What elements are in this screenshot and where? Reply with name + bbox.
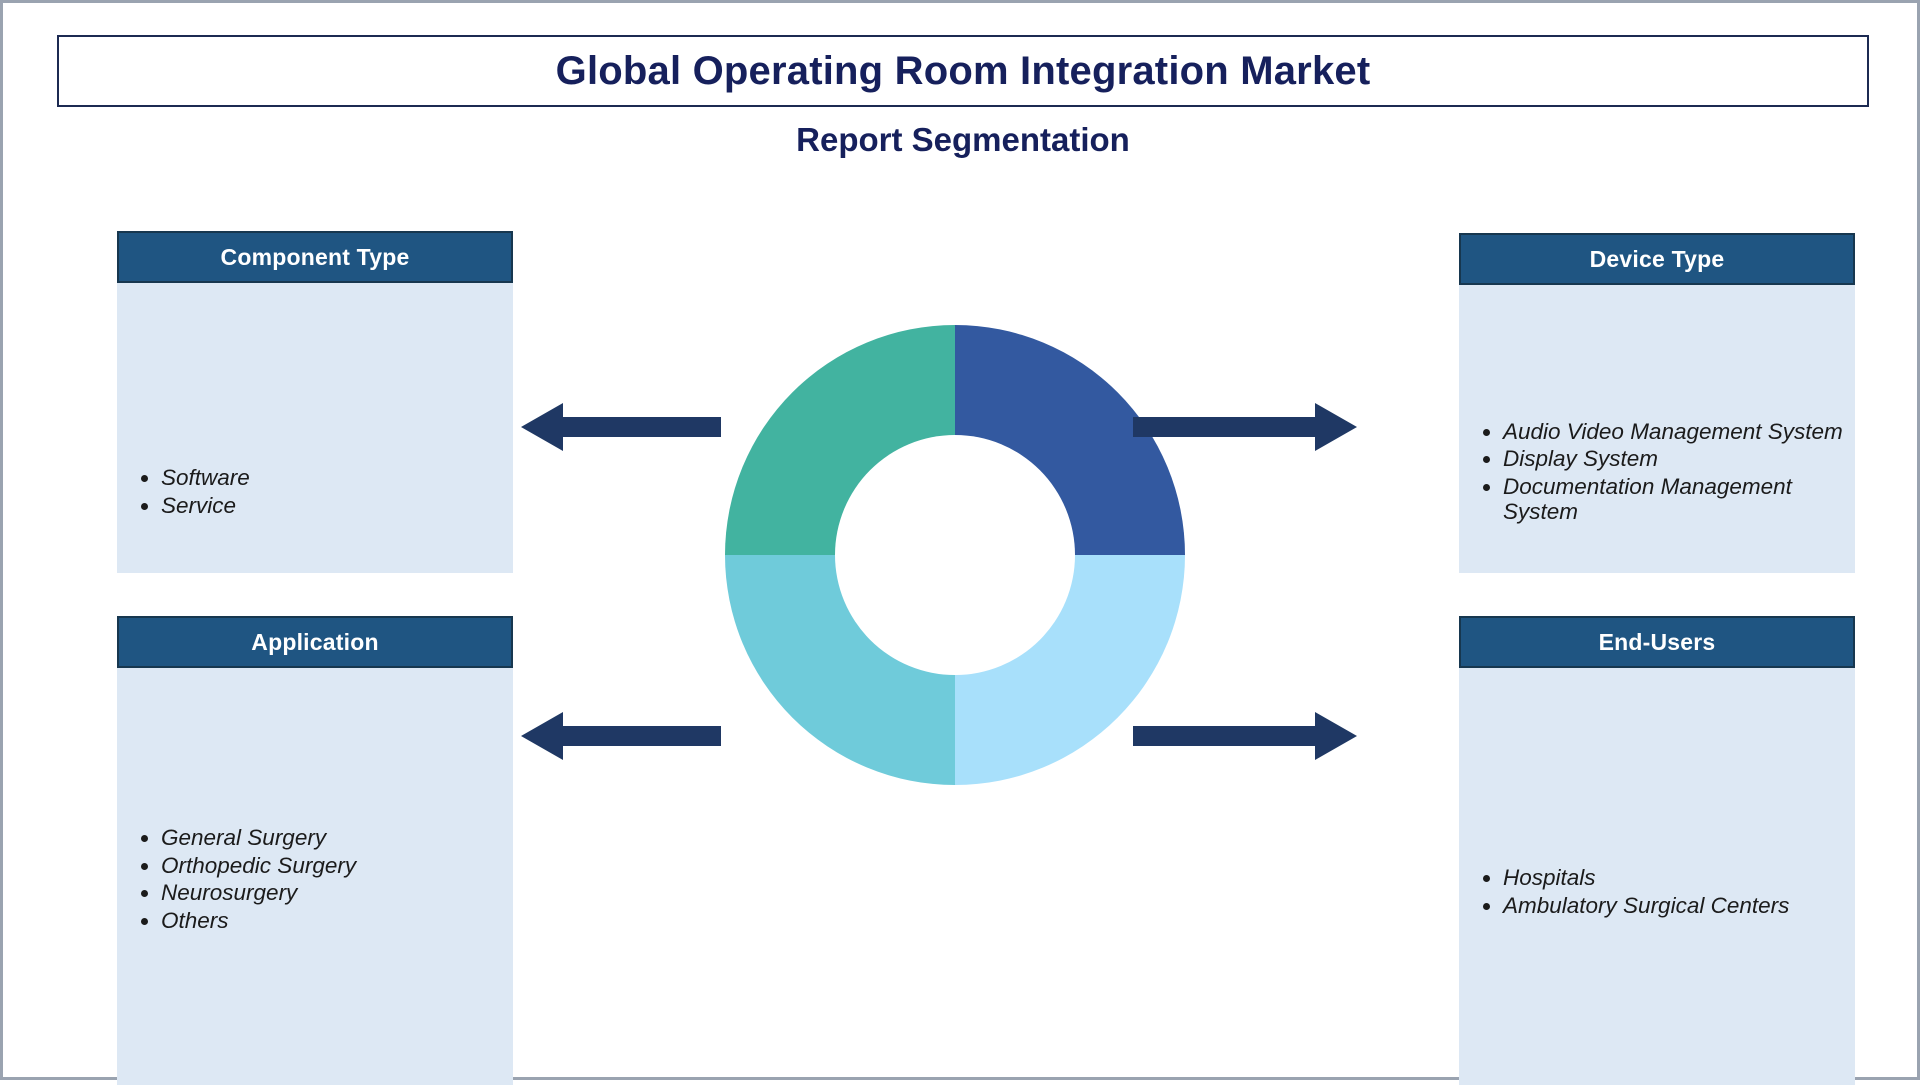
- arrow-left-icon: [521, 401, 721, 453]
- page-title: Global Operating Room Integration Market: [556, 49, 1371, 94]
- arrow-left-icon: [521, 710, 721, 762]
- panel-header-label: Application: [251, 629, 378, 656]
- list-item: Others: [161, 908, 503, 934]
- panel-device-type: Device Type Audio Video Management Syste…: [1459, 233, 1855, 573]
- list-item: Ambulatory Surgical Centers: [1503, 893, 1845, 919]
- panel-body-device-type: Audio Video Management System Display Sy…: [1459, 285, 1855, 573]
- panel-header-end-users: End-Users: [1459, 616, 1855, 668]
- panel-header-label: Device Type: [1590, 246, 1725, 273]
- list-item: Orthopedic Surgery: [161, 853, 503, 879]
- panel-component-type: Component Type Software Service: [117, 231, 513, 573]
- donut-chart-svg: [705, 305, 1205, 805]
- panel-body-component-type: Software Service: [117, 283, 513, 573]
- diagram-canvas: Global Operating Room Integration Market…: [0, 0, 1920, 1080]
- panel-header-label: End-Users: [1599, 629, 1716, 656]
- panel-end-users: End-Users Hospitals Ambulatory Surgical …: [1459, 616, 1855, 1085]
- donut-hole: [835, 435, 1075, 675]
- list-item: Service: [161, 493, 503, 519]
- list-device-type: Audio Video Management System Display Sy…: [1459, 419, 1855, 525]
- list-item: Display System: [1503, 446, 1845, 471]
- list-item: Documentation Management System: [1503, 474, 1845, 525]
- arrow-right-icon: [1133, 710, 1357, 762]
- panel-body-end-users: Hospitals Ambulatory Surgical Centers: [1459, 668, 1855, 1085]
- list-item: General Surgery: [161, 825, 503, 851]
- list-item: Audio Video Management System: [1503, 419, 1845, 444]
- list-item: Neurosurgery: [161, 880, 503, 906]
- panel-header-component-type: Component Type: [117, 231, 513, 283]
- list-item: Hospitals: [1503, 865, 1845, 891]
- title-box: Global Operating Room Integration Market: [57, 35, 1869, 107]
- page-subtitle: Report Segmentation: [3, 121, 1920, 159]
- panel-application: Application General Surgery Orthopedic S…: [117, 616, 513, 1085]
- arrow-right-icon: [1133, 401, 1357, 453]
- panel-header-label: Component Type: [221, 244, 410, 271]
- list-component-type: Software Service: [117, 465, 513, 518]
- panel-header-application: Application: [117, 616, 513, 668]
- panel-body-application: General Surgery Orthopedic Surgery Neuro…: [117, 668, 513, 1085]
- list-application: General Surgery Orthopedic Surgery Neuro…: [117, 825, 513, 934]
- donut-chart: [705, 305, 1205, 805]
- panel-header-device-type: Device Type: [1459, 233, 1855, 285]
- list-item: Software: [161, 465, 503, 491]
- list-end-users: Hospitals Ambulatory Surgical Centers: [1459, 865, 1855, 918]
